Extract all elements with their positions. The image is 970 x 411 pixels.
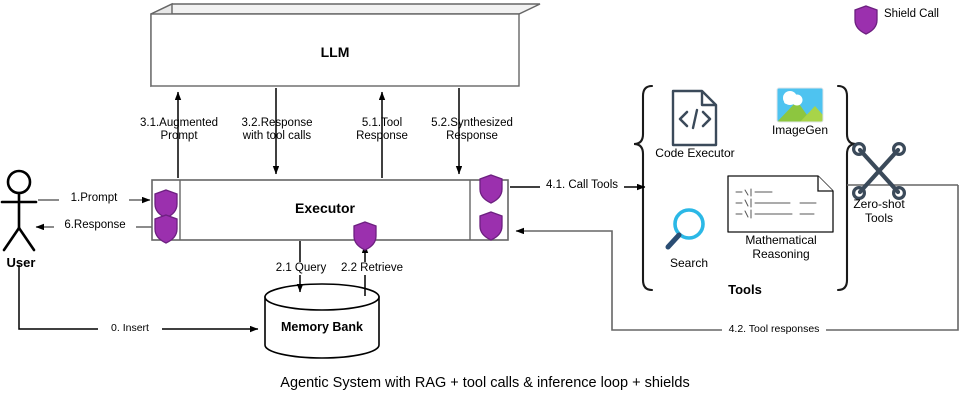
shield-icon-exec-memory — [354, 222, 376, 250]
llm-label: LLM — [151, 44, 519, 60]
diagram-canvas: LLM Executor User Memory Bank Tools 3.1.… — [0, 0, 970, 411]
flow-label-1: 1.Prompt — [59, 192, 129, 205]
tool-label-code-executor: Code Executor — [645, 147, 745, 161]
flow-label-5-2: 5.2.Synthesized Response — [424, 117, 520, 143]
formula-document-icon — [728, 176, 833, 232]
tool-label-search: Search — [650, 257, 728, 271]
shield-icon-legend — [855, 6, 877, 34]
flow-arrow-0 — [19, 265, 258, 329]
tool-label-zero-shot-tools: Zero-shot Tools — [838, 198, 920, 226]
tools-group-label: Tools — [700, 283, 790, 298]
tool-label-imagegen: ImageGen — [760, 124, 840, 138]
crossed-wrenches-icon — [854, 144, 905, 199]
tool-label-math-reasoning: Mathematical Reasoning — [727, 234, 835, 262]
diagram-caption: Agentic System with RAG + tool calls & i… — [0, 375, 970, 392]
flow-label-3-1: 3.1.Augmented Prompt — [134, 117, 224, 143]
flow-label-6: 6.Response — [54, 219, 136, 232]
flow-label-2-2: 2.2 Retrieve — [333, 262, 411, 275]
code-document-icon — [673, 91, 716, 145]
user-actor — [2, 171, 36, 250]
image-icon — [777, 88, 829, 122]
flow-label-4-2: 4.2. Tool responses — [722, 323, 826, 335]
magnifier-icon — [668, 210, 703, 247]
flow-label-0: 0. Insert — [98, 322, 162, 334]
memory-bank-label: Memory Bank — [265, 320, 379, 334]
legend-shield-label: Shield Call — [884, 8, 964, 21]
flow-label-3-2: 3.2.Response with tool calls — [229, 117, 325, 143]
flow-label-2-1: 2.1 Query — [266, 262, 336, 275]
executor-label: Executor — [180, 200, 470, 216]
flow-label-4-1: 4.1. Call Tools — [540, 179, 624, 192]
flow-label-5-1: 5.1.Tool Response — [345, 117, 419, 143]
user-label: User — [0, 256, 42, 271]
